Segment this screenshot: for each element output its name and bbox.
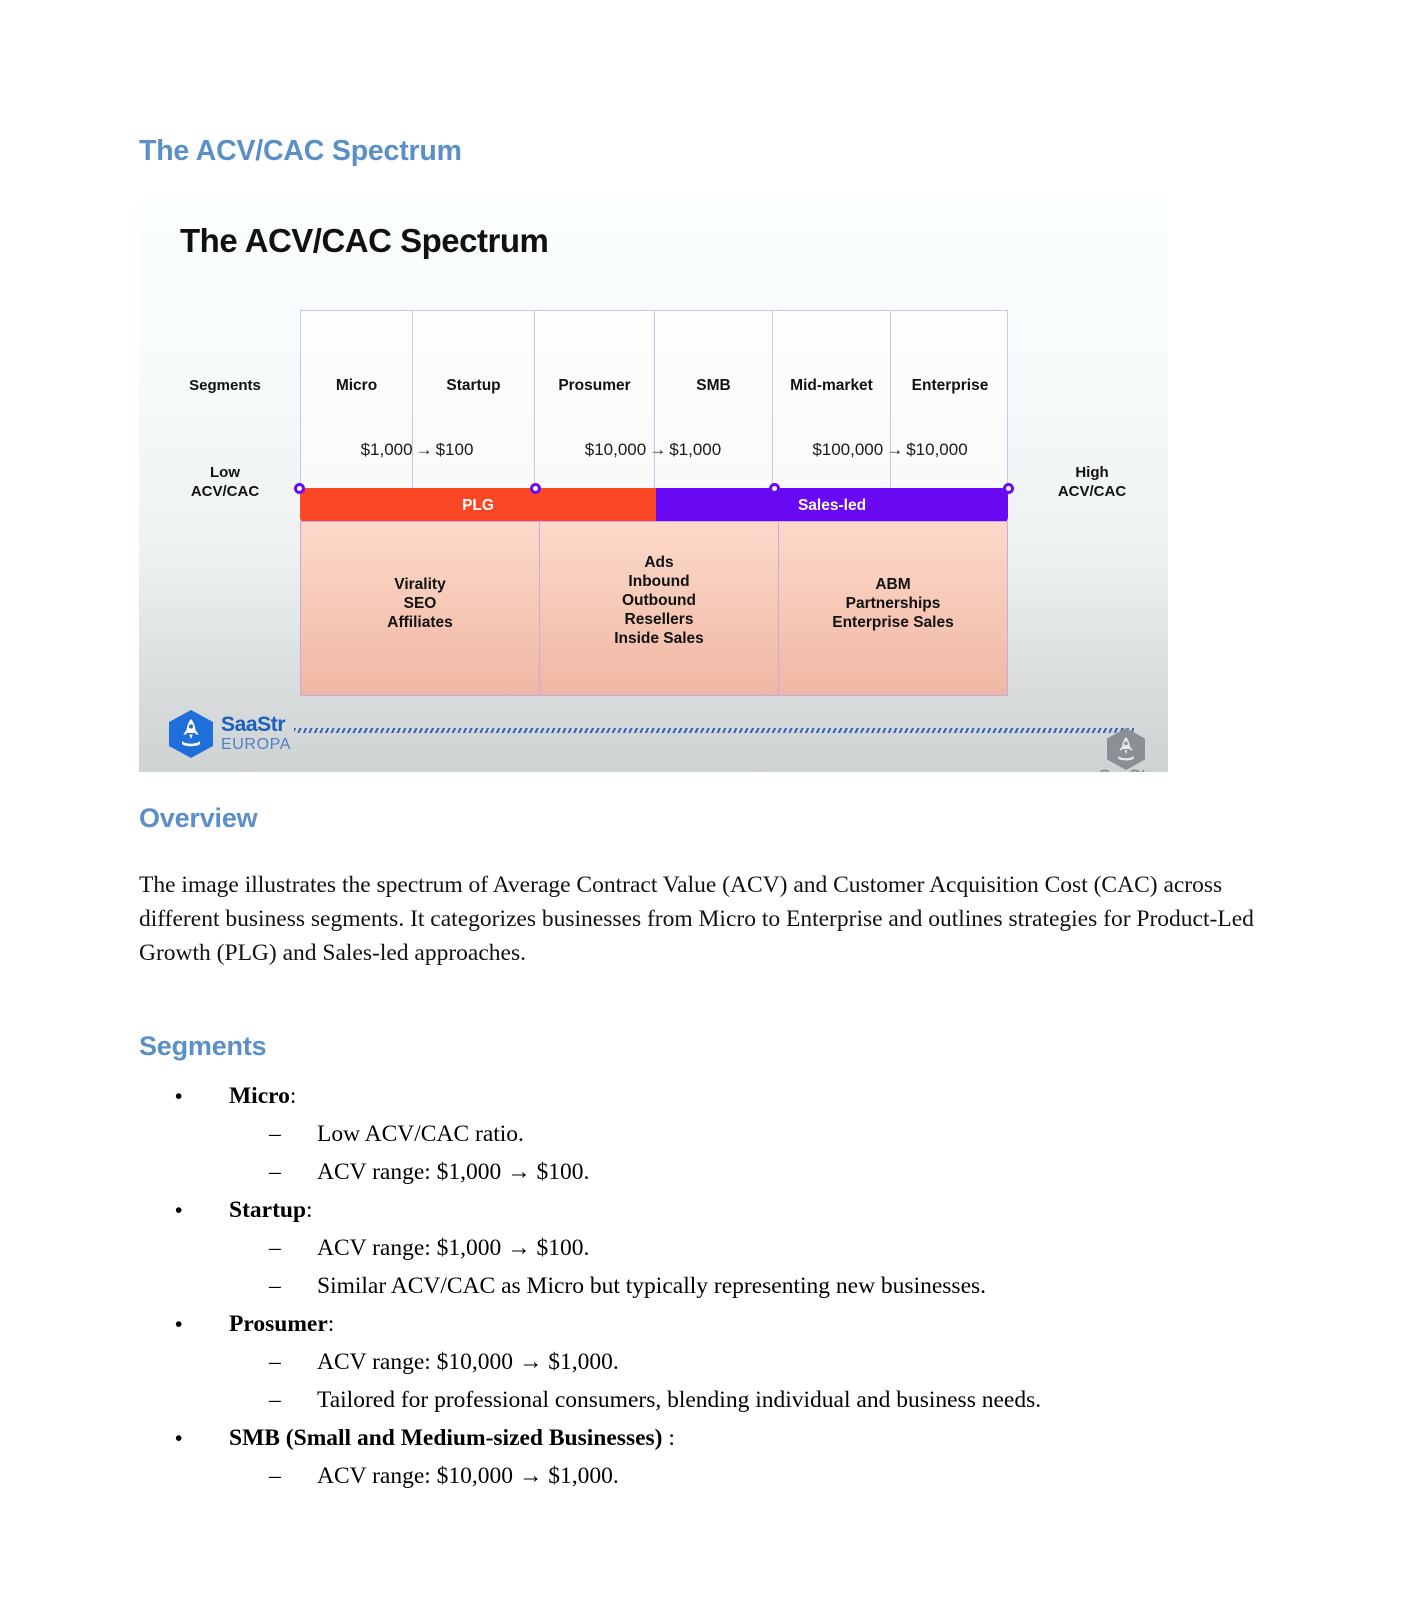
axis-label-low-acv-cac: Low ACV/CAC (160, 463, 290, 501)
segment-column-enterprise: Enterprise (891, 311, 1009, 490)
detail-text: Similar ACV/CAC as Micro but typically r… (317, 1273, 986, 1299)
segment-label: Micro (301, 377, 412, 395)
rocket-icon (180, 718, 202, 748)
tactic-item: Ads (614, 553, 704, 572)
tactic-item: Partnerships (832, 594, 953, 613)
motion-bar-sales-led: Sales-led (656, 488, 1008, 524)
acv-from: $100,000 (812, 440, 883, 459)
dash-icon: – (269, 1115, 281, 1153)
segment-bullet-heading: •SMB (Small and Medium-sized Businesses)… (139, 1419, 1389, 1457)
tactic-item: Virality (387, 575, 452, 594)
segment-suffix: : (328, 1311, 335, 1337)
watermark-rocket-icon (1116, 736, 1136, 762)
dash-icon: – (269, 1343, 281, 1381)
segment-label: Startup (413, 377, 534, 395)
watermark-name: SaaStr (1099, 766, 1153, 772)
tactics-row: Virality SEO Affiliates Ads Inbound Outb… (300, 521, 1008, 696)
axis-high-line2: ACV/CAC (1027, 482, 1157, 501)
segment-column-startup: Startup (413, 311, 535, 490)
segment-column-mid-market: Mid-market (773, 311, 891, 490)
segment-label: Enterprise (891, 377, 1009, 395)
segment-label: SMB (655, 377, 772, 395)
detail-text: Tailored for professional consumers, ble… (317, 1387, 1041, 1413)
bullet-icon: • (175, 1419, 182, 1457)
segment-suffix: : (290, 1083, 297, 1109)
arrow-icon: → (883, 440, 906, 459)
tactic-item: Resellers (614, 610, 704, 629)
acv-to: $100 (436, 440, 474, 459)
segment-detail: –Low ACV/CAC ratio. (139, 1115, 1389, 1153)
segment-detail: –ACV range: $1,000 → $100. (139, 1229, 1389, 1267)
segment-grid: Micro Startup Prosumer SMB Mid-market En… (300, 310, 1008, 490)
bullet-icon: • (175, 1191, 182, 1229)
segment-label: Mid-market (773, 377, 890, 395)
section-heading-segments: Segments (139, 1031, 266, 1062)
segment-column-micro: Micro (301, 311, 413, 490)
segment-label: Prosumer (535, 377, 654, 395)
endpoint-dot-mid-1 (530, 483, 541, 494)
bullet-icon: • (175, 1305, 182, 1343)
segment-name: SMB (Small and Medium-sized Businesses) (229, 1425, 663, 1451)
tactic-item: Inside Sales (614, 629, 704, 648)
segment-detail: –ACV range: $10,000 → $1,000. (139, 1457, 1389, 1495)
segment-column-smb: SMB (655, 311, 773, 490)
acv-from: $10,000 (585, 440, 646, 459)
axis-label-high-acv-cac: High ACV/CAC (1027, 463, 1157, 501)
page-title: The ACV/CAC Spectrum (139, 135, 462, 168)
axis-low-line1: Low (160, 463, 290, 482)
dash-icon: – (269, 1381, 281, 1419)
motion-bar-row: PLG Sales-led (300, 488, 1008, 524)
saastr-logo: SaaStr EUROPA (169, 708, 297, 756)
saastr-subtitle: EUROPA (221, 736, 291, 753)
list-item: •Startup: –ACV range: $1,000 → $100. –Si… (139, 1191, 1389, 1305)
dash-icon: – (269, 1229, 281, 1267)
tactics-panel-enterprise: ABM Partnerships Enterprise Sales (778, 521, 1008, 696)
detail-text: ACV range: $10,000 → $1,000. (317, 1349, 619, 1375)
saastr-wordmark: SaaStr EUROPA (221, 714, 291, 753)
diagram-title: The ACV/CAC Spectrum (180, 222, 548, 260)
tactics-panel-plg-low: Virality SEO Affiliates (300, 521, 540, 696)
detail-text: ACV range: $10,000 → $1,000. (317, 1463, 619, 1489)
acv-range-high: $100,000→$10,000 (772, 440, 1008, 460)
tactic-item: Inbound (614, 572, 704, 591)
segment-suffix: : (663, 1425, 675, 1451)
segment-name: Prosumer (229, 1311, 328, 1337)
axis-high-line1: High (1027, 463, 1157, 482)
acv-to: $10,000 (906, 440, 967, 459)
endpoint-dot-right (1003, 483, 1014, 494)
tactics-list: ABM Partnerships Enterprise Sales (832, 575, 953, 632)
segment-detail: –ACV range: $1,000 → $100. (139, 1153, 1389, 1191)
section-heading-overview: Overview (139, 803, 257, 834)
tactic-item: SEO (387, 594, 452, 613)
segment-suffix: : (306, 1197, 313, 1223)
acv-from: $1,000 (361, 440, 413, 459)
detail-text: Low ACV/CAC ratio. (317, 1121, 524, 1147)
motion-bar-plg: PLG (300, 488, 656, 524)
segment-name: Micro (229, 1083, 290, 1109)
tactic-item: ABM (832, 575, 953, 594)
axis-label-segments: Segments (160, 376, 290, 395)
dash-icon: – (269, 1267, 281, 1305)
acv-range-plg-low: $1,000→$100 (300, 440, 534, 460)
dotted-rule-divider (294, 728, 1134, 733)
list-item: •Micro: –Low ACV/CAC ratio. –ACV range: … (139, 1077, 1389, 1191)
list-item: •SMB (Small and Medium-sized Businesses)… (139, 1419, 1389, 1495)
segment-bullet-heading: •Startup: (139, 1191, 1389, 1229)
dash-icon: – (269, 1153, 281, 1191)
segment-detail: –Similar ACV/CAC as Micro but typically … (139, 1267, 1389, 1305)
axis-low-line2: ACV/CAC (160, 482, 290, 501)
endpoint-dot-left (294, 483, 305, 494)
acv-to: $1,000 (669, 440, 721, 459)
tactic-item: Outbound (614, 591, 704, 610)
detail-text: ACV range: $1,000 → $100. (317, 1235, 589, 1261)
tactic-item: Affiliates (387, 613, 452, 632)
tactic-item: Enterprise Sales (832, 613, 953, 632)
segment-name: Startup (229, 1197, 306, 1223)
list-item: •Prosumer: –ACV range: $10,000 → $1,000.… (139, 1305, 1389, 1419)
segment-bullet-heading: •Micro: (139, 1077, 1389, 1115)
acv-cac-spectrum-diagram: The ACV/CAC Spectrum Segments Low ACV/CA… (139, 200, 1168, 772)
tactics-list: Virality SEO Affiliates (387, 575, 452, 632)
segment-column-prosumer: Prosumer (535, 311, 655, 490)
segment-detail: –ACV range: $10,000 → $1,000. (139, 1343, 1389, 1381)
segment-bullet-heading: •Prosumer: (139, 1305, 1389, 1343)
bullet-icon: • (175, 1077, 182, 1115)
arrow-icon: → (413, 440, 436, 459)
document-page: The ACV/CAC Spectrum The ACV/CAC Spectru… (0, 0, 1422, 1606)
segments-bullet-list: •Micro: –Low ACV/CAC ratio. –ACV range: … (139, 1077, 1389, 1495)
tactics-list: Ads Inbound Outbound Resellers Inside Sa… (614, 553, 704, 648)
endpoint-dot-mid-2 (769, 483, 780, 494)
arrow-icon: → (646, 440, 669, 459)
acv-range-mid: $10,000→$1,000 (534, 440, 772, 460)
dash-icon: – (269, 1457, 281, 1495)
detail-text: ACV range: $1,000 → $100. (317, 1159, 589, 1185)
overview-paragraph: The image illustrates the spectrum of Av… (139, 868, 1289, 970)
saastr-name: SaaStr (221, 714, 291, 736)
segment-detail: –Tailored for professional consumers, bl… (139, 1381, 1389, 1419)
tactics-panel-mid: Ads Inbound Outbound Resellers Inside Sa… (539, 521, 779, 696)
